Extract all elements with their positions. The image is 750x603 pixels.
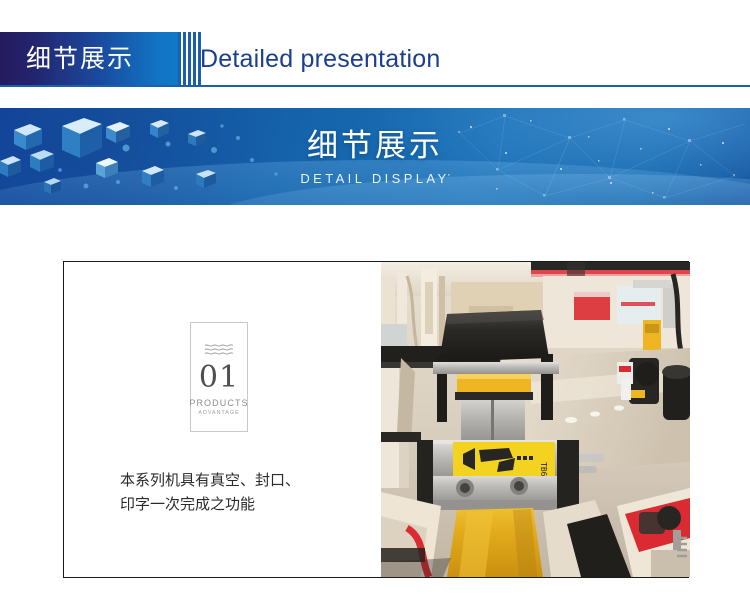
description-line-2: 印字一次完成之功能: [120, 492, 370, 516]
page-header: 细节展示 Detailed presentation: [0, 32, 750, 85]
product-detail-card: 01 PRODUCTS ADVANTAGE 本系列机具有真空、封口、 印字一次完…: [63, 261, 689, 578]
banner-chinese-title: 细节展示: [307, 127, 443, 165]
header-underline-divider: [0, 85, 750, 87]
badge-number: 01: [199, 362, 239, 394]
wave-lines-icon: [204, 343, 234, 356]
vacuum-sealing-printing-machine-photo: TB60: [381, 262, 690, 577]
header-chinese-title: 细节展示: [26, 32, 134, 85]
card-left-column: 01 PRODUCTS ADVANTAGE 本系列机具有真空、封口、 印字一次完…: [64, 262, 381, 577]
badge-label-primary: PRODUCTS: [189, 398, 248, 408]
product-advantage-badge: 01 PRODUCTS ADVANTAGE: [190, 322, 248, 432]
banner-text-group: 细节展示 DETAIL DISPLAY: [0, 108, 750, 205]
header-english-title: Detailed presentation: [200, 32, 440, 85]
vertical-stripes-icon: [178, 32, 202, 85]
product-photo: TB60: [381, 262, 690, 577]
section-banner: 细节展示 DETAIL DISPLAY: [0, 108, 750, 205]
banner-english-subtitle: DETAIL DISPLAY: [300, 171, 449, 186]
product-description: 本系列机具有真空、封口、 印字一次完成之功能: [120, 468, 370, 516]
description-line-1: 本系列机具有真空、封口、: [120, 468, 370, 492]
badge-label-secondary: ADVANTAGE: [198, 410, 239, 416]
